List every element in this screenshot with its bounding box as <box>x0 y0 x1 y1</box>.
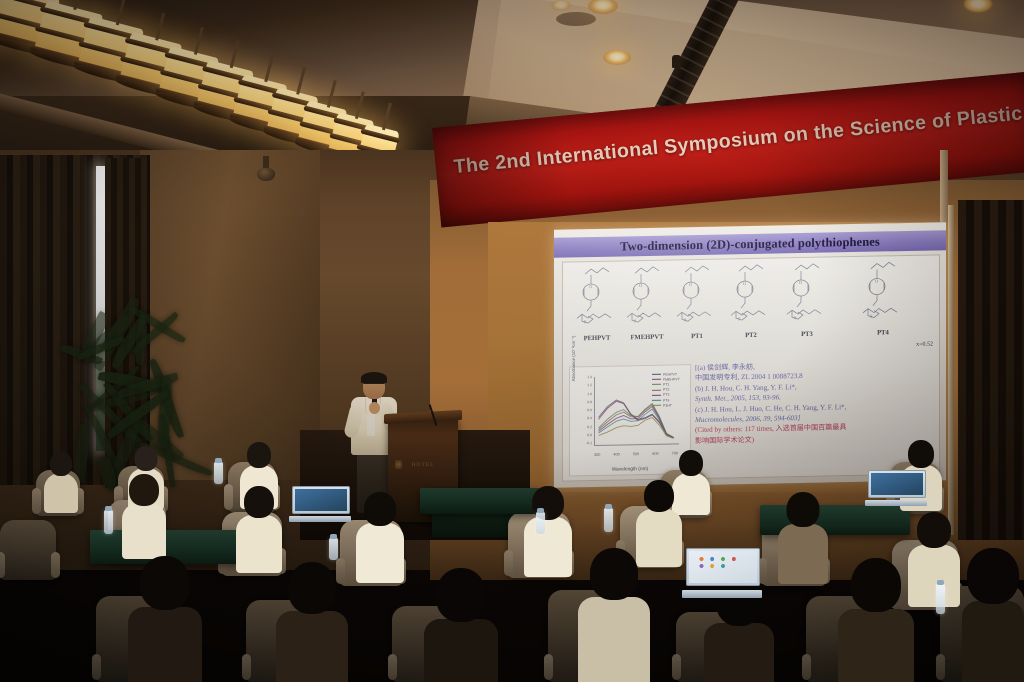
audience-member-head <box>129 474 159 506</box>
y-tick-label: 0.4 <box>587 416 592 420</box>
structure-diagram: OS <box>571 265 623 328</box>
audience-member-head <box>244 486 274 518</box>
downlight-icon <box>603 50 631 65</box>
conference-photo: The 2nd International Symposium on the S… <box>0 0 1024 682</box>
chemical-structure: OSPEHPVT <box>571 265 623 342</box>
structure-label: PEHPVT <box>571 334 623 342</box>
svg-text:O: O <box>689 282 693 287</box>
svg-text:S: S <box>584 319 587 324</box>
structure-diagram: OS <box>837 260 929 324</box>
audience-table <box>420 488 540 514</box>
svg-text:O: O <box>639 283 643 288</box>
audience-member-head <box>787 492 820 527</box>
audience-member <box>122 474 166 562</box>
audience-member-head <box>917 512 951 548</box>
chart-legend: PEHPVTFMEHPVTPT1PT2PT3PT4P3HT <box>652 371 688 408</box>
svg-text:S: S <box>738 316 741 321</box>
chart-y-ticks: 1.41.21.00.80.60.40.20.0-0.1 <box>576 375 592 445</box>
svg-text:O: O <box>799 280 803 285</box>
audience-member <box>908 512 960 610</box>
svg-text:S: S <box>794 315 797 320</box>
structure-label: PT2 <box>725 331 777 339</box>
svg-text:S: S <box>634 318 637 323</box>
audience-member-head <box>140 556 190 610</box>
x-tick-label: 500 <box>633 452 639 456</box>
audience-member-head <box>288 562 336 614</box>
chair <box>0 520 56 580</box>
podium-plaque: HOTEL <box>396 462 450 471</box>
water-bottle <box>214 462 223 484</box>
audience-member <box>44 452 78 516</box>
slide-title: Two-dimension (2D)-conjugated polythioph… <box>620 234 880 254</box>
structure-diagram: OS <box>725 262 777 325</box>
structure-note: x=0.52 <box>916 341 933 347</box>
reference-list: [(a) 侯剑辉, 李永舫,中国发明专利, ZL 2004 1 0088723.… <box>695 359 933 447</box>
structure-label: PT1 <box>671 333 723 341</box>
y-tick-label: 0.8 <box>587 400 592 404</box>
y-tick-label: 1.4 <box>587 375 592 379</box>
audience-member-body <box>704 623 774 682</box>
structure-label: FMEHPVT <box>621 333 673 341</box>
audience-member <box>524 486 572 580</box>
chemical-structure: OSPT4 <box>837 260 929 338</box>
audience-member-body <box>578 597 650 682</box>
x-tick-label: 400 <box>613 453 619 457</box>
slide-title-bar: Two-dimension (2D)-conjugated polythioph… <box>554 230 946 258</box>
svg-text:O: O <box>875 279 879 284</box>
structure-diagram: OS <box>671 264 723 327</box>
ceiling-speaker-icon <box>672 55 681 68</box>
audience-member-head <box>247 442 271 468</box>
y-tick-label: 0.6 <box>587 408 592 412</box>
chemical-structure: OSFMEHPVT <box>621 264 673 341</box>
chart-x-ticks: 300400500600700 <box>594 451 678 457</box>
projected-slide: Two-dimension (2D)-conjugated polythioph… <box>554 222 946 488</box>
downlight-icon <box>551 0 571 11</box>
audience-member-body <box>128 607 202 682</box>
projection-screen: Two-dimension (2D)-conjugated polythioph… <box>488 222 948 492</box>
audience-member <box>128 556 202 682</box>
ceiling-ring-trim <box>556 12 596 26</box>
audience-member-body <box>356 523 404 583</box>
y-tick-label: 1.0 <box>587 392 592 396</box>
audience-member-body <box>44 473 78 513</box>
chemical-structure: OSPT1 <box>671 264 723 341</box>
audience-member <box>424 568 498 682</box>
audience-member-head <box>851 558 901 612</box>
audience-member <box>356 492 404 586</box>
audience-member-body <box>122 503 166 559</box>
y-tick-label: 1.2 <box>587 383 592 387</box>
chart-y-axis-label: Absorbance (10⁻³cm⁻¹) <box>571 321 577 381</box>
structure-diagram: OS <box>781 261 833 324</box>
audience-member-body <box>908 545 960 607</box>
laptop <box>868 470 924 506</box>
svg-text:S: S <box>684 317 687 322</box>
audience-member-body <box>778 524 828 584</box>
svg-text:S: S <box>870 314 873 319</box>
chemical-structures: OSPEHPVTOSFMEHPVTOSPT1OSPT2OSPT3OSPT4x=0… <box>567 259 935 358</box>
audience-member-body <box>962 601 1024 682</box>
glasses-icon <box>364 383 384 388</box>
svg-text:O: O <box>589 284 593 289</box>
chemical-structure: OSPT2 <box>725 262 777 339</box>
curtain-right <box>958 200 1024 540</box>
structure-label: PT3 <box>781 330 833 338</box>
audience-member-body <box>838 609 914 682</box>
audience-member-head <box>908 440 934 468</box>
water-bottle <box>329 538 338 560</box>
audience-member-head <box>50 452 72 476</box>
water-bottle <box>936 584 945 614</box>
laptop <box>292 486 348 522</box>
structure-label: PT4 <box>837 329 929 338</box>
audience-member <box>778 492 828 587</box>
y-tick-label: 0.0 <box>587 433 592 437</box>
audience-member-head <box>436 568 486 622</box>
speaker-badge <box>367 414 375 436</box>
audience-member <box>962 548 1024 682</box>
audience-member-body <box>424 619 498 682</box>
audience-member-body <box>276 611 348 682</box>
structure-diagram: OS <box>621 264 673 327</box>
audience-member-head <box>679 450 703 476</box>
legend-item: P3HT <box>652 402 688 408</box>
speaker-hand <box>369 402 380 414</box>
slide-content: OSPEHPVTOSFMEHPVTOSPT1OSPT2OSPT3OSPT4x=0… <box>562 254 940 481</box>
svg-text:O: O <box>743 281 747 286</box>
screen-edge-post <box>948 205 954 535</box>
water-bottle <box>604 508 613 532</box>
audience-member-body <box>524 517 572 577</box>
laptop <box>686 548 758 598</box>
x-tick-label: 600 <box>652 452 658 456</box>
audience-member-head <box>364 492 396 526</box>
audience-member-head <box>135 446 158 471</box>
audience-member <box>838 558 914 682</box>
audience-member <box>276 562 348 682</box>
dome-camera-icon <box>257 168 275 181</box>
audience-member-head <box>967 548 1019 604</box>
audience-member-head <box>590 548 638 600</box>
y-tick-label: 0.2 <box>587 425 592 429</box>
audience-member-head <box>644 480 674 512</box>
y-tick-label: -0.1 <box>586 441 592 445</box>
water-bottle <box>536 512 545 534</box>
x-tick-label: 300 <box>594 453 600 457</box>
chemical-structure: OSPT3 <box>781 261 833 338</box>
water-bottle <box>104 510 113 534</box>
audience-member <box>578 548 650 682</box>
